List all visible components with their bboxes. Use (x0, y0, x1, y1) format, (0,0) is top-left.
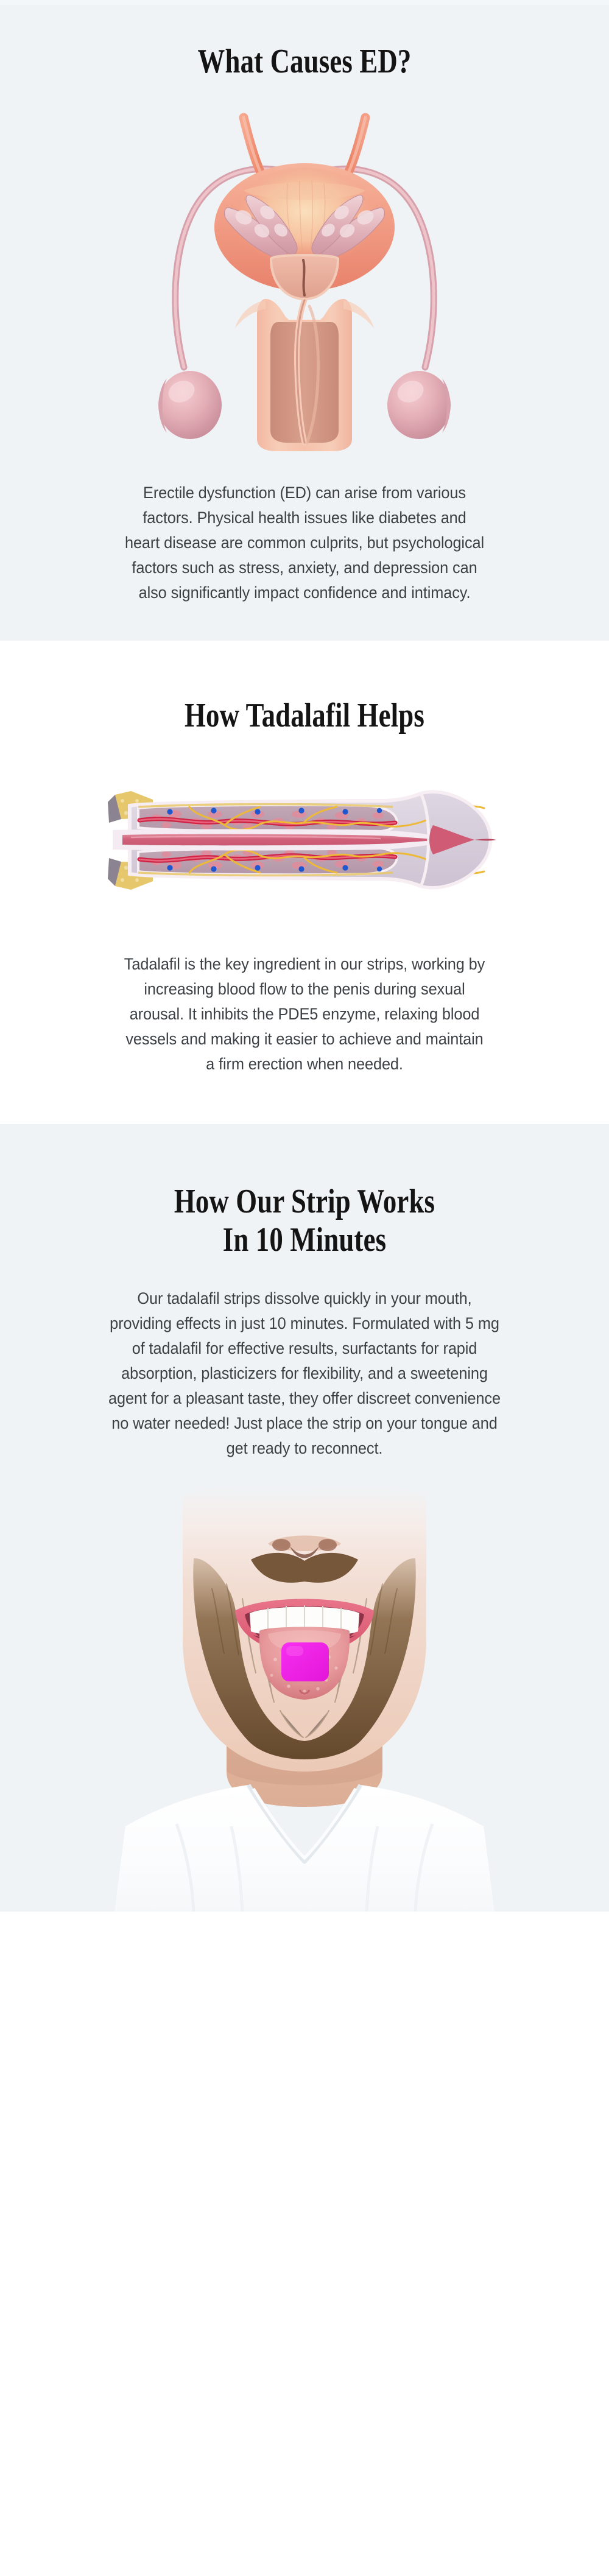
section-1-heading: What Causes ED? (61, 43, 548, 81)
section-how-tadalafil-helps: How Tadalafil Helps (0, 641, 609, 1124)
section-2-heading: How Tadalafil Helps (61, 697, 548, 735)
section-3-heading-line-2: In 10 Minutes (61, 1221, 548, 1259)
infographic-page: What Causes ED? (0, 0, 609, 2576)
section-1-illustration-wrap (0, 105, 609, 452)
section-3-heading: How Our Strip Works In 10 Minutes (61, 1183, 548, 1259)
section-2-body: Tadalafil is the key ingredient in our s… (121, 952, 488, 1077)
page-top-edge (0, 0, 609, 5)
section-3-body: Our tadalafil strips dissolve quickly in… (107, 1286, 502, 1461)
section-how-our-strip-works: How Our Strip Works In 10 Minutes Our ta… (0, 1124, 609, 1912)
penile-cross-section-illustration (94, 767, 515, 913)
section-1-body: Erectile dysfunction (ED) can arise from… (124, 480, 485, 605)
section-2-illustration-wrap (0, 767, 609, 913)
section-3-photo-wrap (0, 1485, 609, 1912)
male-reproductive-anatomy-illustration (146, 105, 463, 452)
man-placing-dissolvable-strip-on-tongue-photo (85, 1485, 524, 1912)
section-3-heading-line-1: How Our Strip Works (61, 1183, 548, 1221)
section-what-causes-ed: What Causes ED? (0, 5, 609, 641)
